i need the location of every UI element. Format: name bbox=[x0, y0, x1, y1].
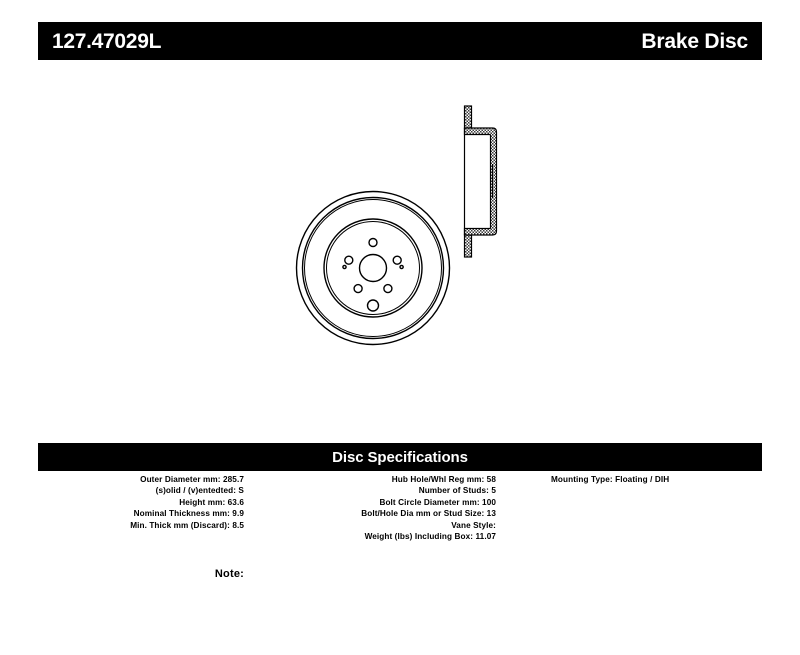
spec-row-number-of-studs: Number of Studs: 5 bbox=[266, 485, 496, 496]
part-number: 127.47029L bbox=[52, 31, 161, 52]
spec-row-min-thickness: Min. Thick mm (Discard): 8.5 bbox=[38, 520, 244, 531]
brake-rotor-cross-section-view bbox=[465, 106, 497, 257]
header-bar: 127.47029L Brake Disc bbox=[38, 22, 762, 60]
spec-row-hub-hole: Hub Hole/Whl Reg mm: 58 bbox=[266, 474, 496, 485]
hub-center-hole bbox=[360, 255, 387, 282]
alignment-pin-hole bbox=[343, 265, 346, 268]
product-type-label: Brake Disc bbox=[641, 31, 748, 52]
lug-hole bbox=[354, 285, 362, 293]
rotor-outer-edge-circle bbox=[297, 192, 450, 345]
specifications-header-bar: Disc Specifications bbox=[38, 443, 762, 471]
spec-column-middle: Hub Hole/Whl Reg mm: 58 Number of Studs:… bbox=[266, 474, 506, 542]
lug-hole bbox=[369, 239, 377, 247]
specifications-title: Disc Specifications bbox=[332, 450, 468, 465]
brake-disc-technical-drawing bbox=[0, 80, 800, 410]
spec-column-right: Mounting Type: Floating / DIH bbox=[506, 474, 762, 485]
cross-section-upper-friction-ring bbox=[465, 106, 472, 128]
lug-hole bbox=[393, 256, 401, 264]
spec-row-mounting-type: Mounting Type: Floating / DIH bbox=[551, 474, 762, 485]
product-drawing bbox=[0, 80, 800, 410]
spec-column-left: Outer Diameter mm: 285.7 (s)olid / (v)en… bbox=[38, 474, 266, 531]
spec-row-bolt-circle-diameter: Bolt Circle Diameter mm: 100 bbox=[266, 497, 496, 508]
brake-rotor-front-view bbox=[297, 192, 450, 345]
alignment-pin-hole bbox=[400, 265, 403, 268]
note-label: Note: bbox=[215, 568, 244, 580]
spec-row-height: Height mm: 63.6 bbox=[38, 497, 244, 508]
rotor-braking-surface-outer-2 bbox=[305, 200, 442, 337]
spec-row-solid-vented: (s)olid / (v)entedted: S bbox=[38, 485, 244, 496]
spec-row-nominal-thickness: Nominal Thickness mm: 9.9 bbox=[38, 508, 244, 519]
specifications-table: Outer Diameter mm: 285.7 (s)olid / (v)en… bbox=[38, 474, 762, 542]
cross-section-lower-friction-ring bbox=[465, 235, 472, 257]
lug-hole bbox=[345, 256, 353, 264]
spec-row-bolt-hole-dia: Bolt/Hole Dia mm or Stud Size: 13 bbox=[266, 508, 496, 519]
cross-section-hat-profile bbox=[465, 128, 497, 235]
rotor-hat-outer-ring bbox=[324, 219, 422, 317]
spec-row-vane-style: Vane Style: bbox=[266, 520, 496, 531]
spec-row-weight: Weight (lbs) Including Box: 11.07 bbox=[266, 531, 496, 542]
lug-hole bbox=[384, 285, 392, 293]
retaining-screw-hole bbox=[368, 300, 379, 311]
note-section: Note: bbox=[38, 568, 266, 580]
spec-row-outer-diameter: Outer Diameter mm: 285.7 bbox=[38, 474, 244, 485]
